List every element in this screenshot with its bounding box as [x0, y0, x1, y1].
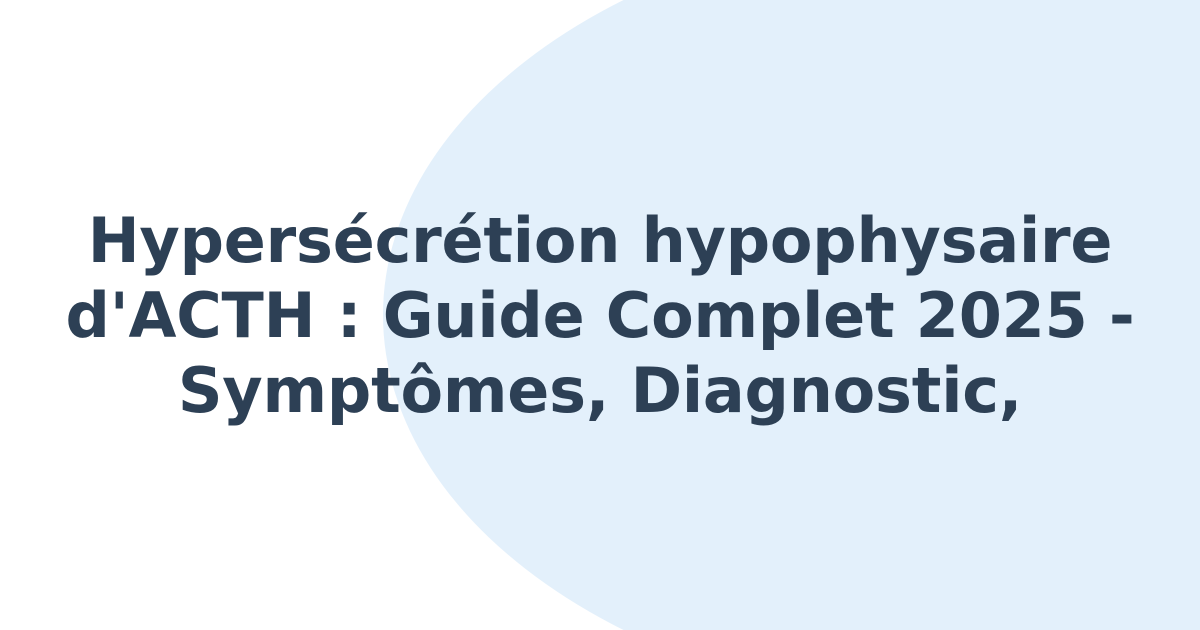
headline-container: Hypersécrétion hypophysaire d'ACTH : Gui…	[0, 0, 1200, 630]
page-title: Hypersécrétion hypophysaire d'ACTH : Gui…	[56, 203, 1144, 428]
share-card: Hypersécrétion hypophysaire d'ACTH : Gui…	[0, 0, 1200, 630]
